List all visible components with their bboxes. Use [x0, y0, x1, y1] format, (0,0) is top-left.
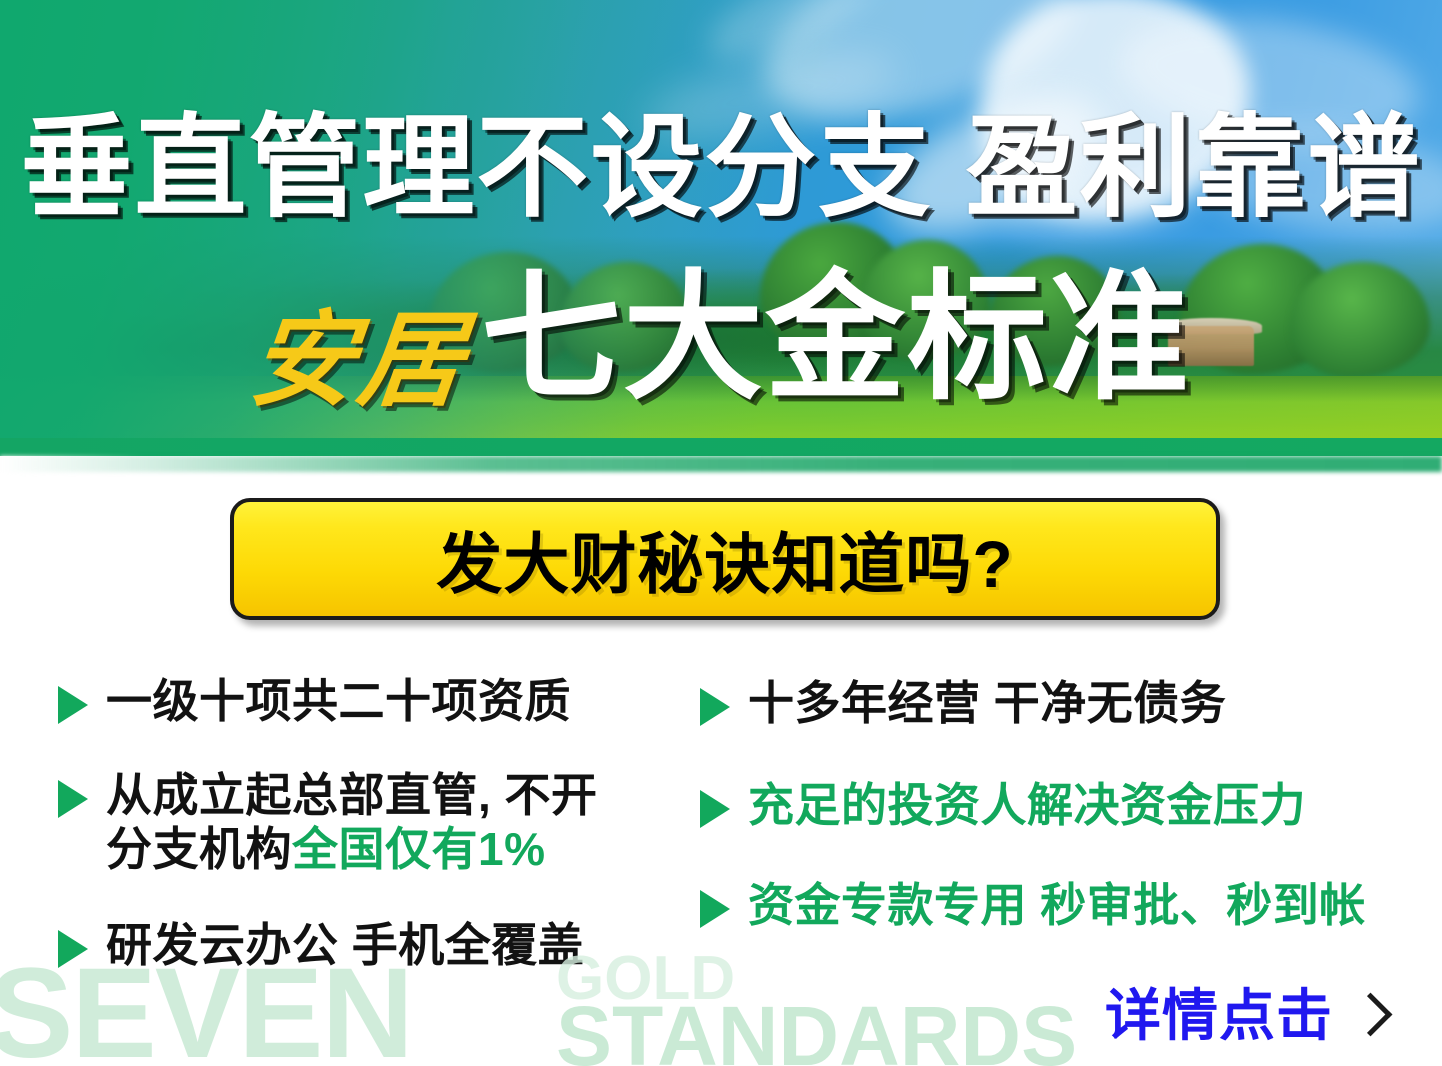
feature-text: 资金专款专用 秒审批、秒到帐 — [748, 878, 1366, 932]
feature-item: 十多年经营 干净无债务 — [700, 676, 1226, 730]
triangle-bullet-icon — [58, 930, 88, 968]
triangle-bullet-icon — [58, 780, 88, 818]
promo-banner-page: 垂直管理不设分支 盈利靠谱 安居七大金标准 发大财秘诀知道吗? 一级十项共二十项… — [0, 0, 1442, 1066]
feature-text: 十多年经营 干净无债务 — [748, 676, 1226, 730]
triangle-bullet-icon — [700, 890, 730, 928]
hero-subtitle-row: 安居七大金标准 — [0, 268, 1442, 412]
feature-text: 一级十项共二十项资质 — [106, 674, 571, 728]
feature-text-line: 十多年经营 干净无债务 — [748, 677, 1226, 729]
hero-headline: 垂直管理不设分支 盈利靠谱 — [0, 112, 1442, 224]
feature-text: 从成立起总部直管, 不开 分支机构全国仅有1% — [106, 768, 598, 877]
feature-text-highlight: 全国仅有1% — [292, 823, 545, 875]
chevron-right-icon — [1349, 992, 1393, 1036]
headline-banner-label: 发大财秘诀知道吗? — [436, 511, 1013, 607]
details-cta-label: 详情点击 — [1105, 988, 1333, 1044]
feature-text-line: 从成立起总部直管, 不开 — [106, 769, 598, 821]
hero-subtitle: 七大金标准 — [481, 268, 1191, 408]
feature-text: 充足的投资人解决资金压力 — [748, 778, 1306, 832]
hero-bottom-band — [0, 438, 1442, 456]
watermark-standards: STANDARDS — [556, 994, 1077, 1066]
feature-item: 从成立起总部直管, 不开 分支机构全国仅有1% — [58, 768, 598, 877]
feature-text-line: 一级十项共二十项资质 — [106, 675, 571, 727]
feature-columns: 一级十项共二十项资质 从成立起总部直管, 不开 分支机构全国仅有1% 研发云办公… — [0, 666, 1442, 966]
triangle-bullet-icon — [58, 686, 88, 724]
feature-item: 充足的投资人解决资金压力 — [700, 778, 1306, 832]
feature-item: 研发云办公 手机全覆盖 — [58, 918, 584, 972]
brand-name: 安居 — [246, 308, 473, 412]
triangle-bullet-icon — [700, 790, 730, 828]
triangle-bullet-icon — [700, 688, 730, 726]
feature-text-line: 研发云办公 手机全覆盖 — [106, 919, 584, 971]
hero-section: 垂直管理不设分支 盈利靠谱 安居七大金标准 — [0, 0, 1442, 456]
feature-text: 研发云办公 手机全覆盖 — [106, 918, 584, 972]
hero-drop-shadow — [0, 456, 1442, 472]
feature-text-line: 资金专款专用 秒审批、秒到帐 — [748, 879, 1366, 931]
feature-text-line: 分支机构 — [106, 823, 292, 875]
feature-item: 一级十项共二十项资质 — [58, 674, 571, 728]
headline-banner[interactable]: 发大财秘诀知道吗? — [230, 498, 1220, 620]
details-cta-link[interactable]: 详情点击 — [1105, 988, 1386, 1044]
feature-text-line: 充足的投资人解决资金压力 — [748, 779, 1306, 831]
feature-item: 资金专款专用 秒审批、秒到帐 — [700, 878, 1366, 932]
